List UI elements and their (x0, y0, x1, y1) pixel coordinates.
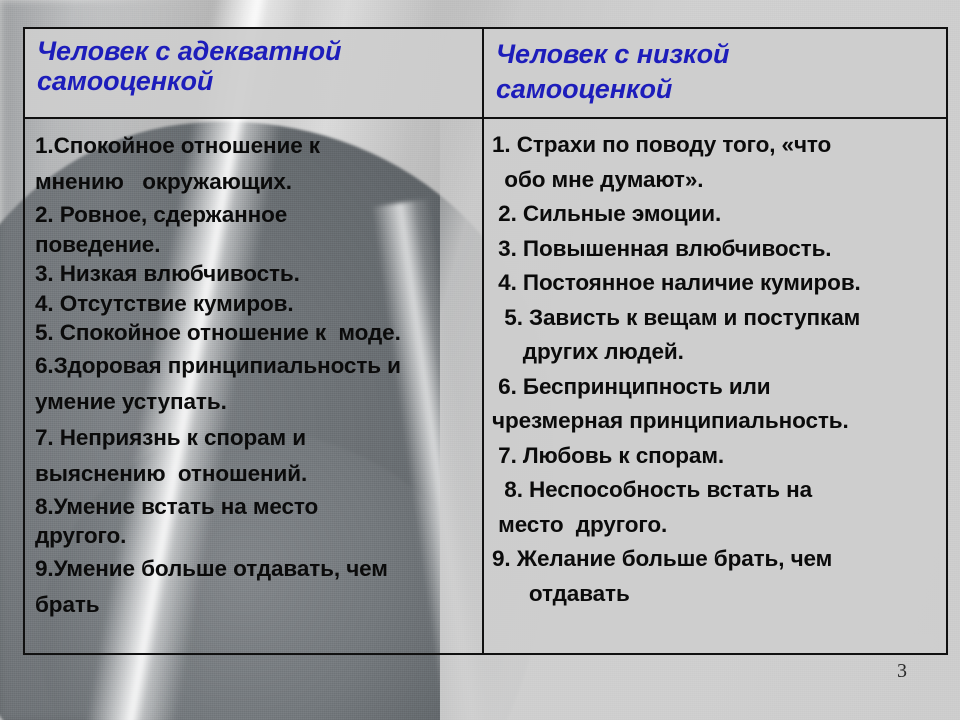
adequate-item-line-1: 1.Спокойное отношение к (35, 128, 476, 164)
low-item-line-1: 1. Страхи по поводу того, «что (492, 128, 940, 163)
adequate-item-line-6: 4. Отсутствие кумиров. (35, 289, 476, 319)
adequate-self-esteem-list: 1.Спокойное отношение кмнению окружающих… (25, 119, 482, 623)
adequate-item-line-9: умение уступать. (35, 384, 476, 420)
adequate-item-line-5: 3. Низкая влюбчивость. (35, 259, 476, 289)
comparison-table: Человек с адекватной самооценкой Человек… (23, 27, 948, 655)
low-item-line-7: других людей. (492, 335, 940, 370)
table-cell-low-list: 1. Страхи по поводу того, «что обо мне д… (484, 119, 946, 653)
slide-canvas: Человек с адекватной самооценкой Человек… (0, 0, 960, 720)
adequate-item-line-13: другого. (35, 521, 476, 551)
page-number: 3 (887, 660, 917, 683)
low-item-line-11: 8. Неспособность встать на (492, 473, 940, 508)
adequate-item-line-2: мнению окружающих. (35, 164, 476, 200)
table-header-cell-adequate: Человек с адекватной самооценкой (25, 29, 484, 117)
table-header-row: Человек с адекватной самооценкой Человек… (25, 29, 946, 119)
header-right-text: Человек с низкой самооценкой (484, 29, 946, 106)
table-cell-adequate-list: 1.Спокойное отношение кмнению окружающих… (25, 119, 484, 653)
low-item-line-4: 3. Повышенная влюбчивость. (492, 232, 940, 267)
adequate-item-line-8: 6.Здоровая принципиальность и (35, 348, 476, 384)
adequate-item-line-3: 2. Ровное, сдержанное (35, 200, 476, 230)
low-item-line-9: чрезмерная принципиальность. (492, 404, 940, 439)
table-header-cell-low: Человек с низкой самооценкой (484, 29, 946, 117)
low-self-esteem-list: 1. Страхи по поводу того, «что обо мне д… (484, 119, 946, 611)
adequate-item-line-11: выяснению отношений. (35, 456, 476, 492)
header-left-line-2: самооценкой (37, 67, 476, 97)
adequate-item-line-4: поведение. (35, 230, 476, 260)
adequate-item-line-15: брать (35, 587, 476, 623)
low-item-line-14: отдавать (492, 577, 940, 612)
low-item-line-5: 4. Постоянное наличие кумиров. (492, 266, 940, 301)
adequate-item-line-14: 9.Умение больше отдавать, чем (35, 551, 476, 587)
low-item-line-2: обо мне думают». (492, 163, 940, 198)
adequate-item-line-10: 7. Неприязнь к спорам и (35, 420, 476, 456)
header-right-line-1: Человек с низкой (496, 37, 940, 72)
low-item-line-13: 9. Желание больше брать, чем (492, 542, 940, 577)
low-item-line-8: 6. Беспринципность или (492, 370, 940, 405)
adequate-item-line-7: 5. Спокойное отношение к моде. (35, 318, 476, 348)
low-item-line-6: 5. Зависть к вещам и поступкам (492, 301, 940, 336)
low-item-line-10: 7. Любовь к спорам. (492, 439, 940, 474)
header-right-line-2: самооценкой (496, 72, 940, 107)
header-left-text: Человек с адекватной самооценкой (25, 29, 482, 96)
header-left-line-1: Человек с адекватной (37, 37, 476, 67)
adequate-item-line-12: 8.Умение встать на место (35, 492, 476, 522)
low-item-line-12: место другого. (492, 508, 940, 543)
table-body-row: 1.Спокойное отношение кмнению окружающих… (25, 119, 946, 653)
low-item-line-3: 2. Сильные эмоции. (492, 197, 940, 232)
